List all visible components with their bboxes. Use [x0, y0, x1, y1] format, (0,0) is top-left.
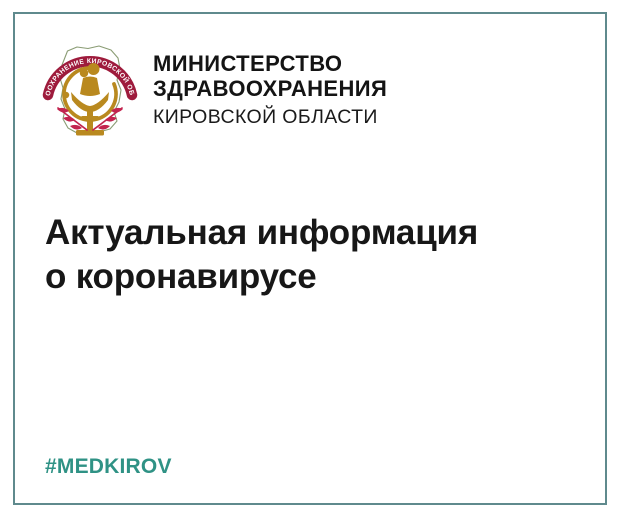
page-title: Актуальная информация о коронавирусе	[45, 211, 478, 299]
page-title-line-1: Актуальная информация	[45, 211, 478, 255]
ministry-lockup: ЗДРАВООХРАНЕНИЕ КИРОВСКОЙ ОБЛАСТИ	[40, 36, 387, 142]
announcement-card: ЗДРАВООХРАНЕНИЕ КИРОВСКОЙ ОБЛАСТИ	[0, 0, 620, 517]
ministry-name: МИНИСТЕРСТВО ЗДРАВООХРАНЕНИЯ КИРОВСКОЙ О…	[153, 49, 387, 130]
hashtag-medkirov[interactable]: #MEDKIROV	[45, 455, 172, 479]
ministry-name-line-2: ЗДРАВООХРАНЕНИЯ	[153, 76, 387, 101]
ministry-name-line-1: МИНИСТЕРСТВО	[153, 51, 387, 76]
page-title-line-2: о коронавирусе	[45, 255, 478, 299]
ministry-name-line-3: КИРОВСКОЙ ОБЛАСТИ	[153, 105, 387, 130]
ministry-emblem-icon: ЗДРАВООХРАНЕНИЕ КИРОВСКОЙ ОБЛАСТИ	[40, 36, 140, 142]
